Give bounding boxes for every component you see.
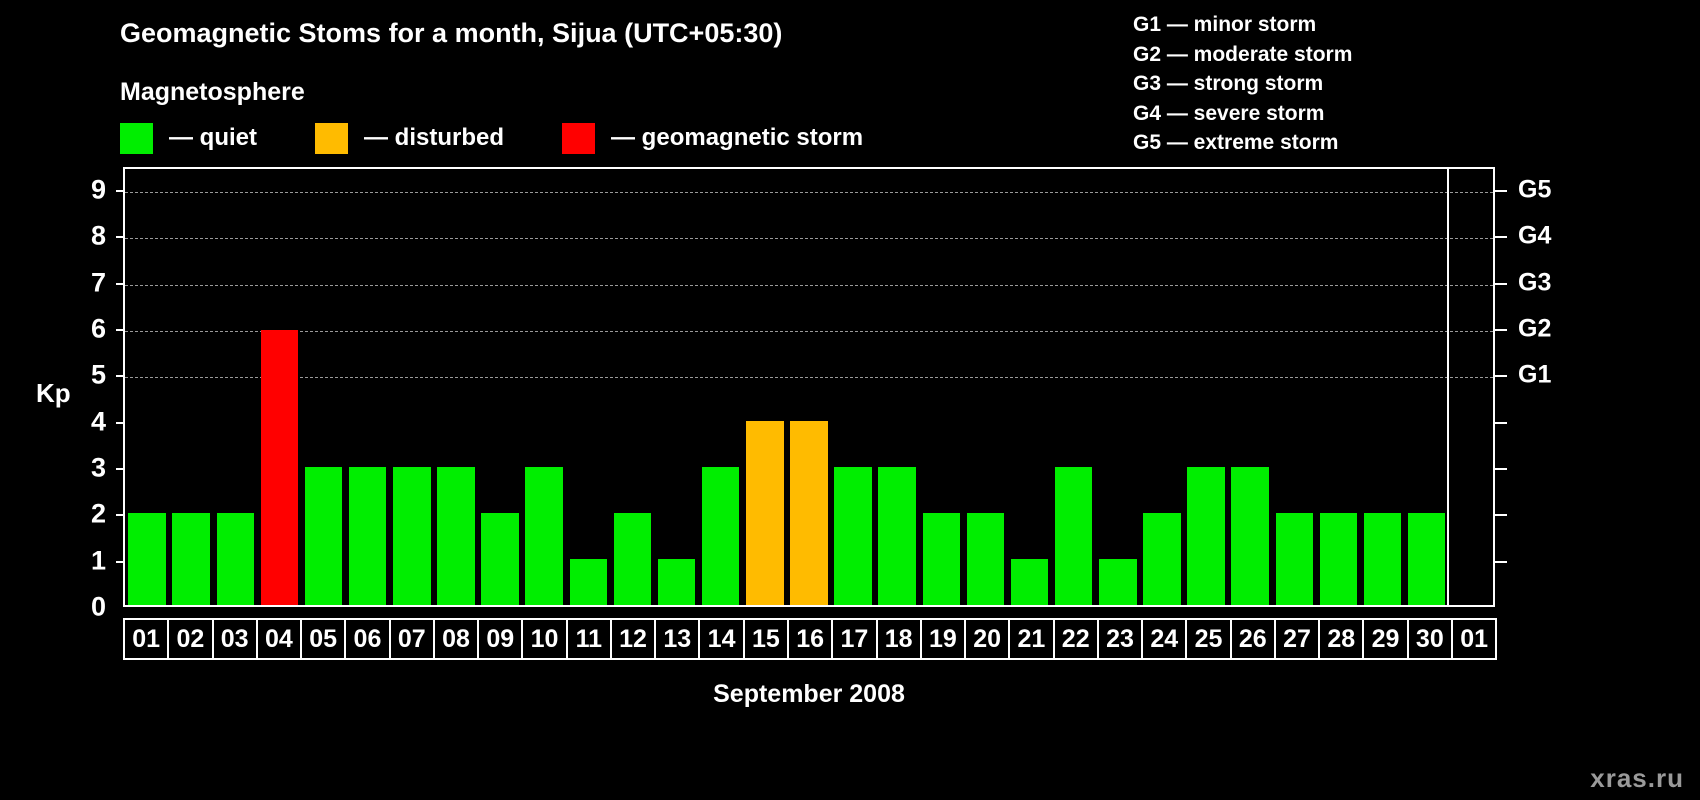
bar-day-03-kp-2[interactable]: [217, 513, 255, 605]
bar-slot-day-16[interactable]: [787, 169, 831, 605]
day-label-28[interactable]: 28: [1318, 618, 1364, 660]
y-tick-label-2: 2: [91, 499, 106, 530]
day-label-10[interactable]: 10: [521, 618, 567, 660]
bar-day-13-kp-1[interactable]: [658, 559, 696, 605]
bar-slot-day-04[interactable]: [257, 169, 301, 605]
bar-slot-day-26[interactable]: [1228, 169, 1272, 605]
y-tick-label-0: 0: [91, 592, 106, 623]
day-label-04[interactable]: 04: [256, 618, 302, 660]
bar-day-24-kp-2[interactable]: [1143, 513, 1181, 605]
bar-slot-day-30[interactable]: [1405, 169, 1449, 605]
g-tick-label-G2: G2: [1518, 315, 1551, 344]
bar-slot-day-29[interactable]: [1361, 169, 1405, 605]
plot-area: [123, 167, 1495, 607]
y-tick-label-5: 5: [91, 360, 106, 391]
bar-slot-day-07[interactable]: [390, 169, 434, 605]
magnetosphere-label: Magnetosphere: [120, 78, 305, 107]
bar-day-23-kp-1[interactable]: [1099, 559, 1137, 605]
day-label-22[interactable]: 22: [1053, 618, 1099, 660]
legend-label: — quiet: [169, 124, 257, 152]
bar-slot-day-08[interactable]: [434, 169, 478, 605]
day-label-02[interactable]: 02: [167, 618, 213, 660]
bar-day-09-kp-2[interactable]: [481, 513, 519, 605]
y-tick-label-6: 6: [91, 314, 106, 345]
storm-swatch: [562, 123, 595, 154]
g-legend-line-3: G3 — strong storm: [1133, 69, 1352, 99]
day-label-01[interactable]: 01: [123, 618, 169, 660]
g-tick-label-G3: G3: [1518, 268, 1551, 297]
bar-slot-day-02[interactable]: [169, 169, 213, 605]
bar-slot-day-01[interactable]: [1449, 169, 1493, 605]
bar-slot-day-15[interactable]: [743, 169, 787, 605]
g-scale-legend: G1 — minor stormG2 — moderate stormG3 — …: [1133, 10, 1352, 158]
day-label-18[interactable]: 18: [876, 618, 922, 660]
quiet-swatch: [120, 123, 153, 154]
bar-day-28-kp-2[interactable]: [1320, 513, 1358, 605]
x-axis-title: September 2008: [123, 680, 1495, 709]
bar-slot-day-10[interactable]: [522, 169, 566, 605]
bar-day-30-kp-2[interactable]: [1408, 513, 1446, 605]
day-label-21[interactable]: 21: [1008, 618, 1054, 660]
bar-day-17-kp-3[interactable]: [834, 467, 872, 605]
y-tick-label-4: 4: [91, 406, 106, 437]
bar-slot-day-21[interactable]: [1008, 169, 1052, 605]
bar-slot-day-06[interactable]: [346, 169, 390, 605]
day-label-13[interactable]: 13: [654, 618, 700, 660]
day-label-26[interactable]: 26: [1230, 618, 1276, 660]
day-label-23[interactable]: 23: [1097, 618, 1143, 660]
g-scale-axis: G5G4G3G2G1: [1495, 167, 1615, 607]
x-axis-day-labels: 0102030405060708091011121314151617181920…: [123, 618, 1495, 660]
bar-slot-day-05[interactable]: [302, 169, 346, 605]
bar-day-18-kp-3[interactable]: [878, 467, 916, 605]
legend-label: — disturbed: [364, 124, 504, 152]
g-tick-mark-kp-1: [1495, 561, 1507, 563]
g-tick-mark-kp-6: [1495, 329, 1507, 331]
g-tick-label-G1: G1: [1518, 361, 1551, 390]
bar-day-01-kp-2[interactable]: [128, 513, 166, 605]
watermark: xras.ru: [1590, 763, 1684, 794]
bar-slot-day-03[interactable]: [213, 169, 257, 605]
g-legend-line-4: G4 — severe storm: [1133, 99, 1352, 129]
bar-slot-day-22[interactable]: [1052, 169, 1096, 605]
bar-slot-day-20[interactable]: [963, 169, 1007, 605]
day-label-14[interactable]: 14: [698, 618, 744, 660]
g-tick-mark-kp-9: [1495, 190, 1507, 192]
color-legend: — quiet— disturbed— geomagnetic storm: [120, 122, 921, 154]
day-label-19[interactable]: 19: [920, 618, 966, 660]
bar-day-11-kp-1[interactable]: [570, 559, 608, 605]
bar-day-25-kp-3[interactable]: [1187, 467, 1225, 605]
bar-slot-day-14[interactable]: [699, 169, 743, 605]
bar-slot-day-11[interactable]: [566, 169, 610, 605]
g-tick-mark-kp-8: [1495, 236, 1507, 238]
bar-day-19-kp-2[interactable]: [923, 513, 961, 605]
day-label-05[interactable]: 05: [300, 618, 346, 660]
day-label-09[interactable]: 09: [477, 618, 523, 660]
g-tick-mark-kp-7: [1495, 283, 1507, 285]
y-axis-title: Kp: [36, 378, 71, 409]
bar-slot-day-01[interactable]: [125, 169, 169, 605]
bar-day-02-kp-2[interactable]: [172, 513, 210, 605]
day-label-24[interactable]: 24: [1141, 618, 1187, 660]
bar-day-26-kp-3[interactable]: [1231, 467, 1269, 605]
bar-day-22-kp-3[interactable]: [1055, 467, 1093, 605]
g-legend-line-5: G5 — extreme storm: [1133, 128, 1352, 158]
bar-slot-day-28[interactable]: [1316, 169, 1360, 605]
plot-inner: [125, 169, 1493, 605]
bar-slot-day-17[interactable]: [831, 169, 875, 605]
bar-day-15-kp-4[interactable]: [746, 421, 784, 605]
g-tick-mark-kp-5: [1495, 375, 1507, 377]
g-tick-label-G4: G4: [1518, 222, 1551, 251]
bar-day-16-kp-4[interactable]: [790, 421, 828, 605]
bar-day-08-kp-3[interactable]: [437, 467, 475, 605]
day-label-29[interactable]: 29: [1362, 618, 1408, 660]
g-tick-label-G5: G5: [1518, 176, 1551, 205]
bar-day-20-kp-2[interactable]: [967, 513, 1005, 605]
bar-day-29-kp-2[interactable]: [1364, 513, 1402, 605]
legend-item-2: — geomagnetic storm: [562, 123, 863, 154]
g-legend-line-2: G2 — moderate storm: [1133, 40, 1352, 70]
bar-slot-day-12[interactable]: [610, 169, 654, 605]
day-label-15[interactable]: 15: [743, 618, 789, 660]
bar-day-07-kp-3[interactable]: [393, 467, 431, 605]
day-label-11[interactable]: 11: [566, 618, 612, 660]
legend-item-1: — disturbed: [315, 123, 504, 154]
bar-slot-day-23[interactable]: [1096, 169, 1140, 605]
day-label-17[interactable]: 17: [831, 618, 877, 660]
day-label-30[interactable]: 30: [1407, 618, 1453, 660]
day-label-03[interactable]: 03: [212, 618, 258, 660]
bar-day-14-kp-3[interactable]: [702, 467, 740, 605]
y-tick-label-7: 7: [91, 267, 106, 298]
y-tick-label-8: 8: [91, 221, 106, 252]
g-tick-mark-kp-2: [1495, 514, 1507, 516]
legend-item-0: — quiet: [120, 123, 257, 154]
y-tick-label-1: 1: [91, 545, 106, 576]
bar-slot-day-25[interactable]: [1184, 169, 1228, 605]
bar-slot-day-24[interactable]: [1140, 169, 1184, 605]
bar-day-12-kp-2[interactable]: [614, 513, 652, 605]
y-tick-label-3: 3: [91, 453, 106, 484]
day-label-25[interactable]: 25: [1185, 618, 1231, 660]
bar-slot-day-18[interactable]: [875, 169, 919, 605]
bar-day-21-kp-1[interactable]: [1011, 559, 1049, 605]
g-tick-mark-kp-3: [1495, 468, 1507, 470]
bar-day-05-kp-3[interactable]: [305, 467, 343, 605]
day-label-01[interactable]: 01: [1451, 618, 1497, 660]
bar-day-06-kp-3[interactable]: [349, 467, 387, 605]
day-label-27[interactable]: 27: [1274, 618, 1320, 660]
page-title: Geomagnetic Stoms for a month, Sijua (UT…: [120, 18, 782, 49]
bar-day-27-kp-2[interactable]: [1276, 513, 1314, 605]
day-label-12[interactable]: 12: [610, 618, 656, 660]
bar-day-10-kp-3[interactable]: [525, 467, 563, 605]
g-legend-line-1: G1 — minor storm: [1133, 10, 1352, 40]
bar-series: [125, 169, 1493, 605]
bar-slot-day-09[interactable]: [478, 169, 522, 605]
bar-slot-day-27[interactable]: [1272, 169, 1316, 605]
day-label-16[interactable]: 16: [787, 618, 833, 660]
y-tick-label-9: 9: [91, 175, 106, 206]
bar-slot-day-19[interactable]: [919, 169, 963, 605]
legend-label: — geomagnetic storm: [611, 124, 863, 152]
bar-day-04-kp-6[interactable]: [261, 330, 299, 605]
disturbed-swatch: [315, 123, 348, 154]
month-boundary-line: [1447, 169, 1449, 605]
day-label-20[interactable]: 20: [964, 618, 1010, 660]
g-tick-mark-kp-4: [1495, 422, 1507, 424]
day-label-08[interactable]: 08: [433, 618, 479, 660]
day-label-06[interactable]: 06: [344, 618, 390, 660]
day-label-07[interactable]: 07: [389, 618, 435, 660]
bar-slot-day-13[interactable]: [655, 169, 699, 605]
